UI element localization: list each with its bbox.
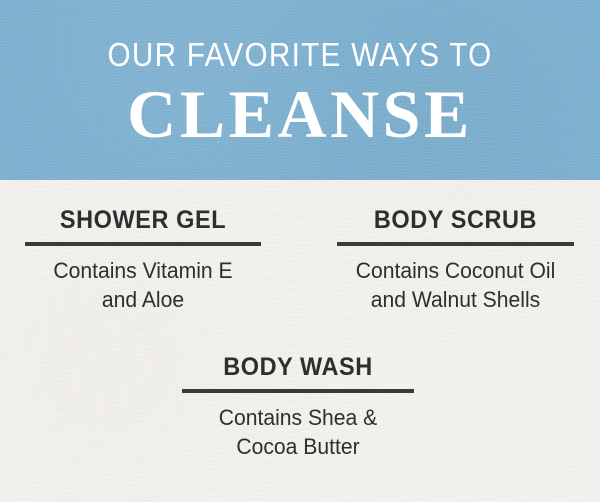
header-band: OUR FAVORITE WAYS TO CLEANSE [0,0,600,180]
item-body-wash-description: Contains Shea & Cocoa Butter [187,403,410,461]
poster-canvas: OUR FAVORITE WAYS TO CLEANSE SHOWER GEL … [0,0,600,502]
item-shower-gel-rule [25,242,261,246]
item-shower-gel-description: Contains Vitamin E and Aloe [30,256,257,314]
item-body-scrub-title: BODY SCRUB [344,205,567,235]
header-wordmark: CLEANSE [0,79,600,149]
header-content: OUR FAVORITE WAYS TO CLEANSE [0,0,600,180]
item-body-wash: BODY WASH Contains Shea & Cocoa Butter [182,352,414,461]
item-body-scrub: BODY SCRUB Contains Coconut Oil and Waln… [337,205,574,314]
item-body-scrub-rule [337,242,574,246]
item-shower-gel-description-line-1: Contains Vitamin E [30,256,257,285]
item-body-scrub-description: Contains Coconut Oil and Walnut Shells [342,256,570,314]
item-body-scrub-description-line-1: Contains Coconut Oil [342,256,570,285]
content-area: SHOWER GEL Contains Vitamin E and Aloe B… [0,180,600,502]
item-body-scrub-description-line-2: and Walnut Shells [342,285,570,314]
header-kicker: OUR FAVORITE WAYS TO [30,35,570,75]
item-body-wash-rule [182,389,414,393]
item-body-wash-title: BODY WASH [189,352,407,382]
item-body-wash-description-line-1: Contains Shea & [187,403,410,432]
item-body-wash-description-line-2: Cocoa Butter [187,432,410,461]
item-shower-gel: SHOWER GEL Contains Vitamin E and Aloe [25,205,261,314]
item-shower-gel-title: SHOWER GEL [32,205,254,235]
item-shower-gel-description-line-2: and Aloe [30,285,257,314]
